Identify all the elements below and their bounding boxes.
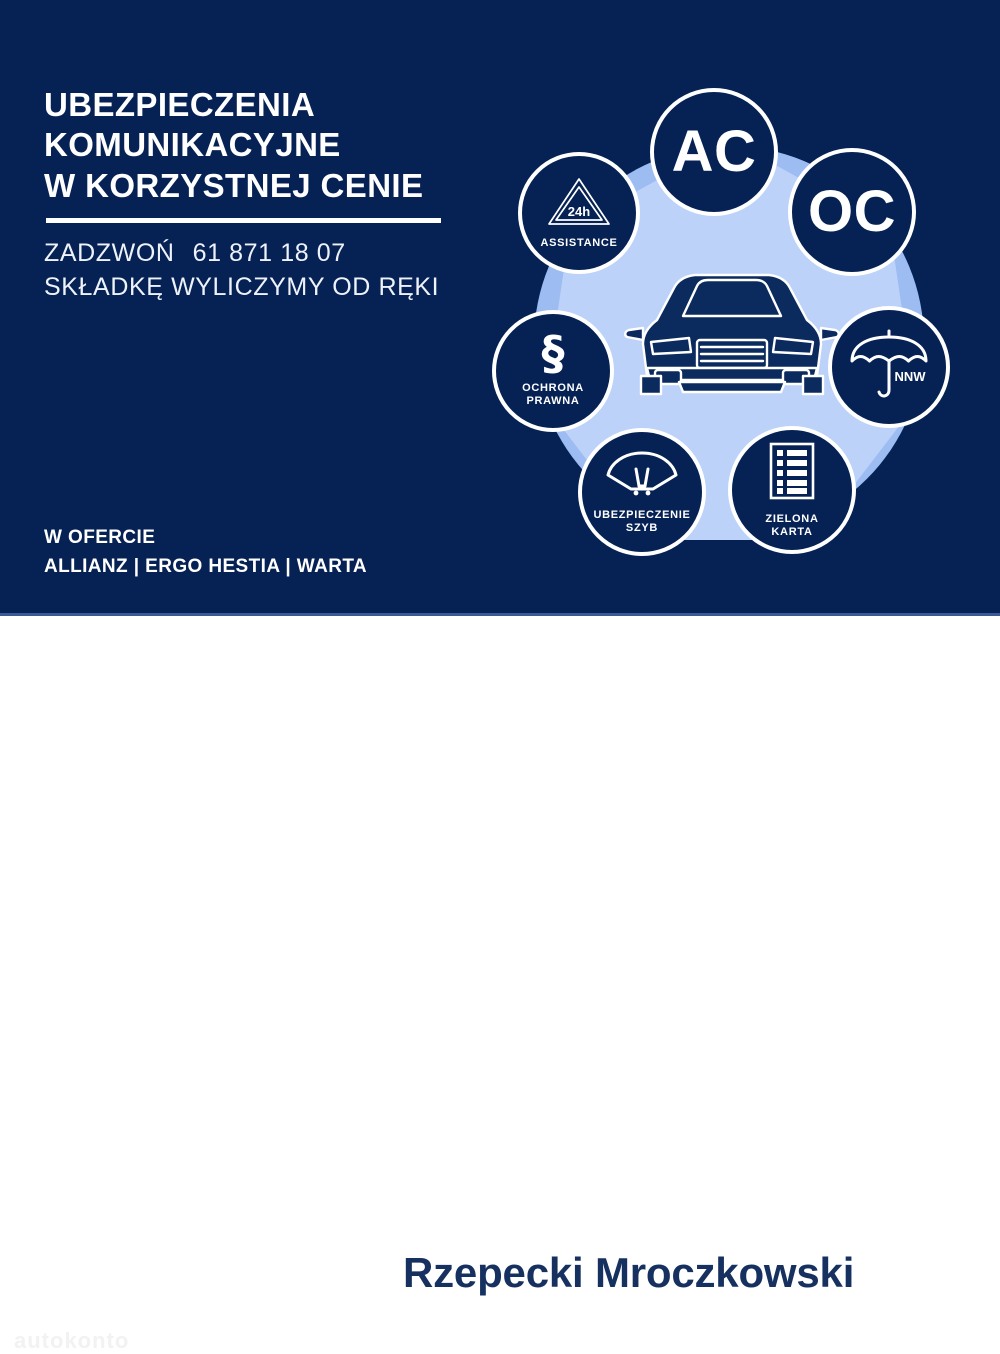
offer-title: W OFERCIE <box>44 524 367 553</box>
node-ubezpieczenie-szyb[interactable]: UBEZPIECZENIE SZYB <box>578 428 706 556</box>
windshield-wiper-icon <box>605 449 679 502</box>
navy-panel: UBEZPIECZENIA KOMUNIKACYJNE W KORZYSTNEJ… <box>0 0 1000 613</box>
node-assistance[interactable]: 24h ASSISTANCE <box>518 152 640 274</box>
call-to-action-line: ZADZWOŃ61 871 18 07 <box>44 236 474 271</box>
headline-line-2: KOMUNIKACYJNE <box>44 125 474 165</box>
node-ochrona-prawna-label-line2: PRAWNA <box>526 395 579 408</box>
insurance-infographic: AC OC 24h ASSISTANCE <box>492 88 962 588</box>
headline-block: UBEZPIECZENIA KOMUNIKACYJNE W KORZYSTNEJ… <box>44 85 474 305</box>
headline-line-3: W KORZYSTNEJ CENIE <box>44 166 474 206</box>
node-ac[interactable]: AC <box>650 88 778 216</box>
node-karta-label-line2: KARTA <box>771 526 812 539</box>
section-sign-icon: § <box>542 334 565 373</box>
node-assistance-label: ASSISTANCE <box>540 237 617 250</box>
umbrella-icon: NNW <box>848 328 930 407</box>
quote-promise-line: SKŁADKĘ WYLICZYMY OD RĘKI <box>44 270 474 305</box>
node-ochrona-prawna[interactable]: § OCHRONA PRAWNA <box>492 310 614 432</box>
advertisement-banner: UBEZPIECZENIA KOMUNIKACYJNE W KORZYSTNEJ… <box>0 0 1000 750</box>
svg-text:24h: 24h <box>568 204 590 219</box>
checklist-document-icon <box>769 442 815 505</box>
phone-number[interactable]: 61 871 18 07 <box>193 239 346 267</box>
offer-block: W OFERCIE ALLIANZ | ERGO HESTIA | WARTA <box>44 524 367 581</box>
page-title: UBEZPIECZENIA KOMUNIKACYJNE W KORZYSTNEJ… <box>44 85 474 206</box>
node-oc-label: OC <box>808 183 896 241</box>
warning-triangle-icon: 24h <box>546 176 612 233</box>
brand-name: Rzepecki Mroczkowski <box>403 1249 854 1297</box>
node-szyb-label-line1: UBEZPIECZENIE <box>593 509 690 522</box>
call-label: ZADZWOŃ <box>44 239 175 267</box>
headline-line-1: UBEZPIECZENIA <box>44 85 474 125</box>
node-nnw[interactable]: NNW <box>828 306 950 428</box>
car-front-icon <box>617 258 847 408</box>
node-ochrona-prawna-label-line1: OCHRONA <box>522 382 584 395</box>
footer-bar: Rzepecki Mroczkowski autokonto <box>0 616 1000 750</box>
node-zielona-karta[interactable]: ZIELONA KARTA <box>728 426 856 554</box>
offer-insurers: ALLIANZ | ERGO HESTIA | WARTA <box>44 553 367 582</box>
node-oc[interactable]: OC <box>788 148 916 276</box>
node-szyb-label-line2: SZYB <box>626 522 658 535</box>
svg-text:NNW: NNW <box>894 369 926 384</box>
node-ac-label: AC <box>672 123 757 181</box>
headline-divider <box>46 218 441 223</box>
watermark: autokonto <box>14 1328 129 1354</box>
node-karta-label-line1: ZIELONA <box>765 513 818 526</box>
